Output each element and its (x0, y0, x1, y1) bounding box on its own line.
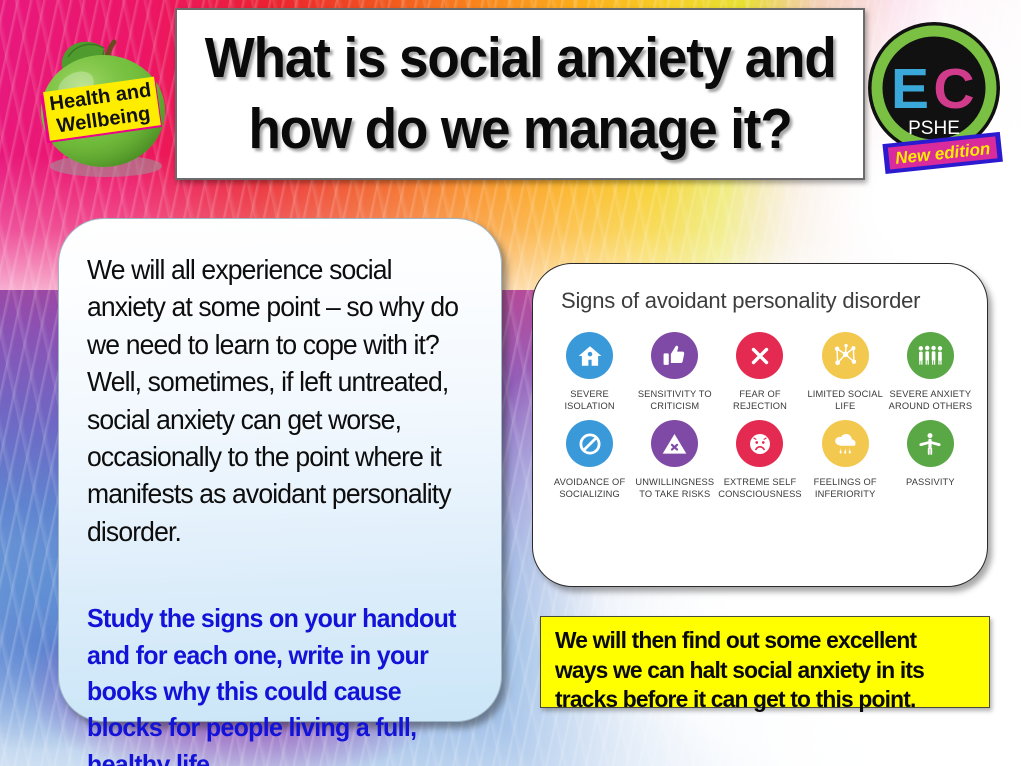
ec-pshe-icon: E C PSHE New edition (858, 16, 1016, 181)
callout-box: We will then find out some excellent way… (540, 616, 990, 708)
thumbs-up-icon (651, 332, 698, 379)
people-group-icon (907, 332, 954, 379)
ec-letter-c: C (933, 57, 974, 121)
sign-item-unwillingness-to-take-risks: UNWILLINGNESS TO TAKE RISKS (632, 420, 717, 502)
sign-item-extreme-self-consciousness: EXTREME SELF CONSCIOUSNESS (717, 420, 802, 502)
network-icon (822, 332, 869, 379)
signs-card: Signs of avoidant personality disorder S… (532, 263, 988, 587)
ec-subtitle: PSHE (908, 118, 960, 139)
slide-title-box: What is social anxiety and how do we man… (175, 8, 865, 180)
sign-item-avoidance-of-socializing: AVOIDANCE OF SOCIALIZING (547, 420, 632, 502)
ec-pshe-logo: E C PSHE New edition (858, 16, 1016, 181)
warning-triangle-icon (651, 420, 698, 467)
rain-cloud-icon (822, 420, 869, 467)
sign-label: SEVERE ANXIETY AROUND OTHERS (889, 388, 973, 414)
explanation-card: We will all experience social anxiety at… (58, 218, 502, 722)
sign-label: SEVERE ISOLATION (564, 388, 614, 414)
sign-label: FEELINGS OF INFERIORITY (814, 476, 877, 502)
sign-item-fear-of-rejection: FEAR OF REJECTION (717, 332, 802, 414)
sign-item-severe-anxiety-around-others: SEVERE ANXIETY AROUND OTHERS (888, 332, 973, 414)
task-instruction: Study the signs on your handout and for … (87, 600, 459, 766)
callout-text: We will then find out some excellent way… (555, 626, 964, 715)
sign-label: LIMITED SOCIAL LIFE (807, 388, 882, 414)
prohibition-icon (566, 420, 613, 467)
ec-letter-e: E (891, 57, 929, 121)
health-and-wellbeing-apple-logo: Health and Wellbeing (18, 14, 188, 184)
sad-face-icon (736, 420, 783, 467)
sign-label: EXTREME SELF CONSCIOUSNESS (718, 476, 802, 502)
sign-item-passivity: PASSIVITY (888, 420, 973, 502)
page-title-line-1: What is social anxiety and (205, 23, 836, 94)
sign-label: FEAR OF REJECTION (733, 388, 787, 414)
close-x-icon (736, 332, 783, 379)
sign-item-severe-isolation: SEVERE ISOLATION (547, 332, 632, 414)
sign-label: AVOIDANCE OF SOCIALIZING (554, 476, 625, 502)
sign-label: SENSITIVITY TO CRITICISM (638, 388, 712, 414)
sign-label: UNWILLINGNESS TO TAKE RISKS (635, 476, 714, 502)
apple-icon: Health and Wellbeing (18, 14, 188, 184)
sign-item-limited-social-life: LIMITED SOCIAL LIFE (803, 332, 888, 414)
standing-person-icon (907, 420, 954, 467)
page-title-line-2: how do we manage it? (248, 94, 791, 165)
sign-item-sensitivity-to-criticism: SENSITIVITY TO CRITICISM (632, 332, 717, 414)
sign-item-feelings-of-inferiority: FEELINGS OF INFERIORITY (803, 420, 888, 502)
explanation-paragraph: We will all experience social anxiety at… (87, 251, 461, 550)
sign-label: PASSIVITY (906, 476, 955, 502)
slide: Health and Wellbeing What is social anxi… (0, 0, 1021, 766)
signs-card-title: Signs of avoidant personality disorder (561, 288, 973, 314)
signs-grid: SEVERE ISOLATION SENSITIVITY TO CRITICIS… (547, 332, 973, 502)
home-icon (566, 332, 613, 379)
